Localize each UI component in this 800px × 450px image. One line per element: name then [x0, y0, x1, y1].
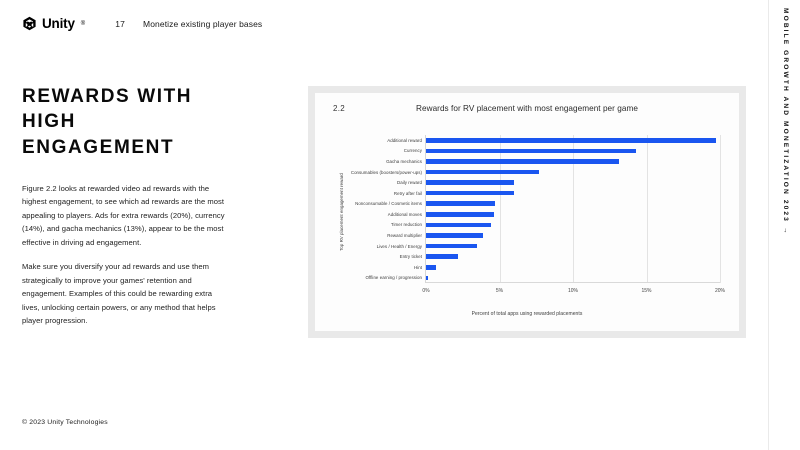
bar-row: Gacha mechanics [426, 156, 720, 167]
side-band: MOBILE GROWTH AND MONETIZATION 2023 → [768, 0, 800, 450]
bar-category-label: Reward multiplier [387, 233, 422, 238]
bar-row: Daily reward [426, 177, 720, 188]
gridline [720, 135, 721, 283]
x-axis-tick-label: 10% [568, 288, 578, 294]
chart-title: Rewards for RV placement with most engag… [315, 104, 739, 113]
footer-copyright: © 2023 Unity Technologies [22, 419, 108, 426]
bar [426, 223, 491, 228]
trademark-symbol: ® [81, 21, 85, 27]
bar-category-label: Hint [414, 265, 422, 270]
bar-row: Reward multiplier [426, 230, 720, 241]
bar [426, 244, 477, 249]
plot-area: Additional rewardCurrencyGacha mechanics… [425, 135, 720, 283]
bar [426, 138, 716, 143]
slide-header: Unity ® 17 Monetize existing player base… [22, 16, 262, 31]
bar [426, 233, 483, 238]
page-number: 17 [115, 19, 125, 29]
x-axis-tick-label: 0% [422, 288, 429, 294]
bar-category-label: Gacha mechanics [386, 159, 422, 164]
slide-root: Unity ® 17 Monetize existing player base… [0, 0, 800, 450]
unity-cube-logo-icon [22, 16, 37, 31]
page-title: REWARDS WITH HIGH ENGAGEMENT [22, 84, 227, 160]
bar-category-label: Nonconsumable / Cosmetic items [355, 201, 422, 206]
left-column: REWARDS WITH HIGH ENGAGEMENT Figure 2.2 … [22, 84, 227, 328]
bar-row: Offline earning / progression [426, 273, 720, 284]
bar-row: Consumables (boosters/power-ups) [426, 167, 720, 178]
bar-row: Additional reward [426, 135, 720, 146]
bar-category-label: Entry ticket [400, 254, 422, 259]
bar-row: Retry after fail [426, 188, 720, 199]
bar-category-label: Lives / Health / Energy [377, 244, 422, 249]
bar [426, 170, 539, 175]
section-title: Monetize existing player bases [143, 19, 262, 29]
bar-category-label: Consumables (boosters/power-ups) [351, 170, 422, 175]
x-axis-title: Percent of total apps using rewarded pla… [315, 311, 739, 317]
bar-category-label: Timer reduction [391, 222, 422, 227]
bar [426, 254, 458, 259]
bar-row: Entry ticket [426, 251, 720, 262]
x-axis-tick-label: 20% [715, 288, 725, 294]
bar [426, 149, 636, 154]
paragraph-2: Make sure you diversify your ad rewards … [22, 260, 227, 328]
bar [426, 180, 514, 185]
bar [426, 265, 436, 270]
bar-category-label: Retry after fail [394, 191, 422, 196]
unity-wordmark: Unity [42, 17, 75, 31]
body-copy: Figure 2.2 looks at rewarded video ad re… [22, 182, 227, 328]
y-axis-title: Top RV placement engagement reward [339, 173, 344, 251]
bar-row: Timer reduction [426, 220, 720, 231]
bar-row: Currency [426, 146, 720, 157]
bar-category-label: Daily reward [397, 180, 422, 185]
bar [426, 276, 428, 281]
bar-row: Lives / Health / Energy [426, 241, 720, 252]
bar-row: Additional moves [426, 209, 720, 220]
bar-row: Nonconsumable / Cosmetic items [426, 198, 720, 209]
side-band-label: MOBILE GROWTH AND MONETIZATION 2023 → [781, 8, 788, 236]
x-axis-tick-label: 15% [641, 288, 651, 294]
bar [426, 191, 514, 196]
x-axis-tick-label: 5% [496, 288, 503, 294]
chart-inner: 2.2 Rewards for RV placement with most e… [315, 93, 739, 331]
bar [426, 212, 494, 217]
bar-series: Additional rewardCurrencyGacha mechanics… [426, 135, 720, 283]
bar-row: Hint [426, 262, 720, 273]
bar [426, 159, 619, 164]
bar-category-label: Offline earning / progression [365, 275, 422, 280]
paragraph-1: Figure 2.2 looks at rewarded video ad re… [22, 182, 227, 250]
chart-card: 2.2 Rewards for RV placement with most e… [308, 86, 746, 338]
bar-category-label: Currency [404, 148, 422, 153]
bar-category-label: Additional moves [388, 212, 422, 217]
bar [426, 201, 495, 206]
bar-category-label: Additional reward [387, 138, 422, 143]
unity-logo: Unity ® [22, 16, 85, 31]
